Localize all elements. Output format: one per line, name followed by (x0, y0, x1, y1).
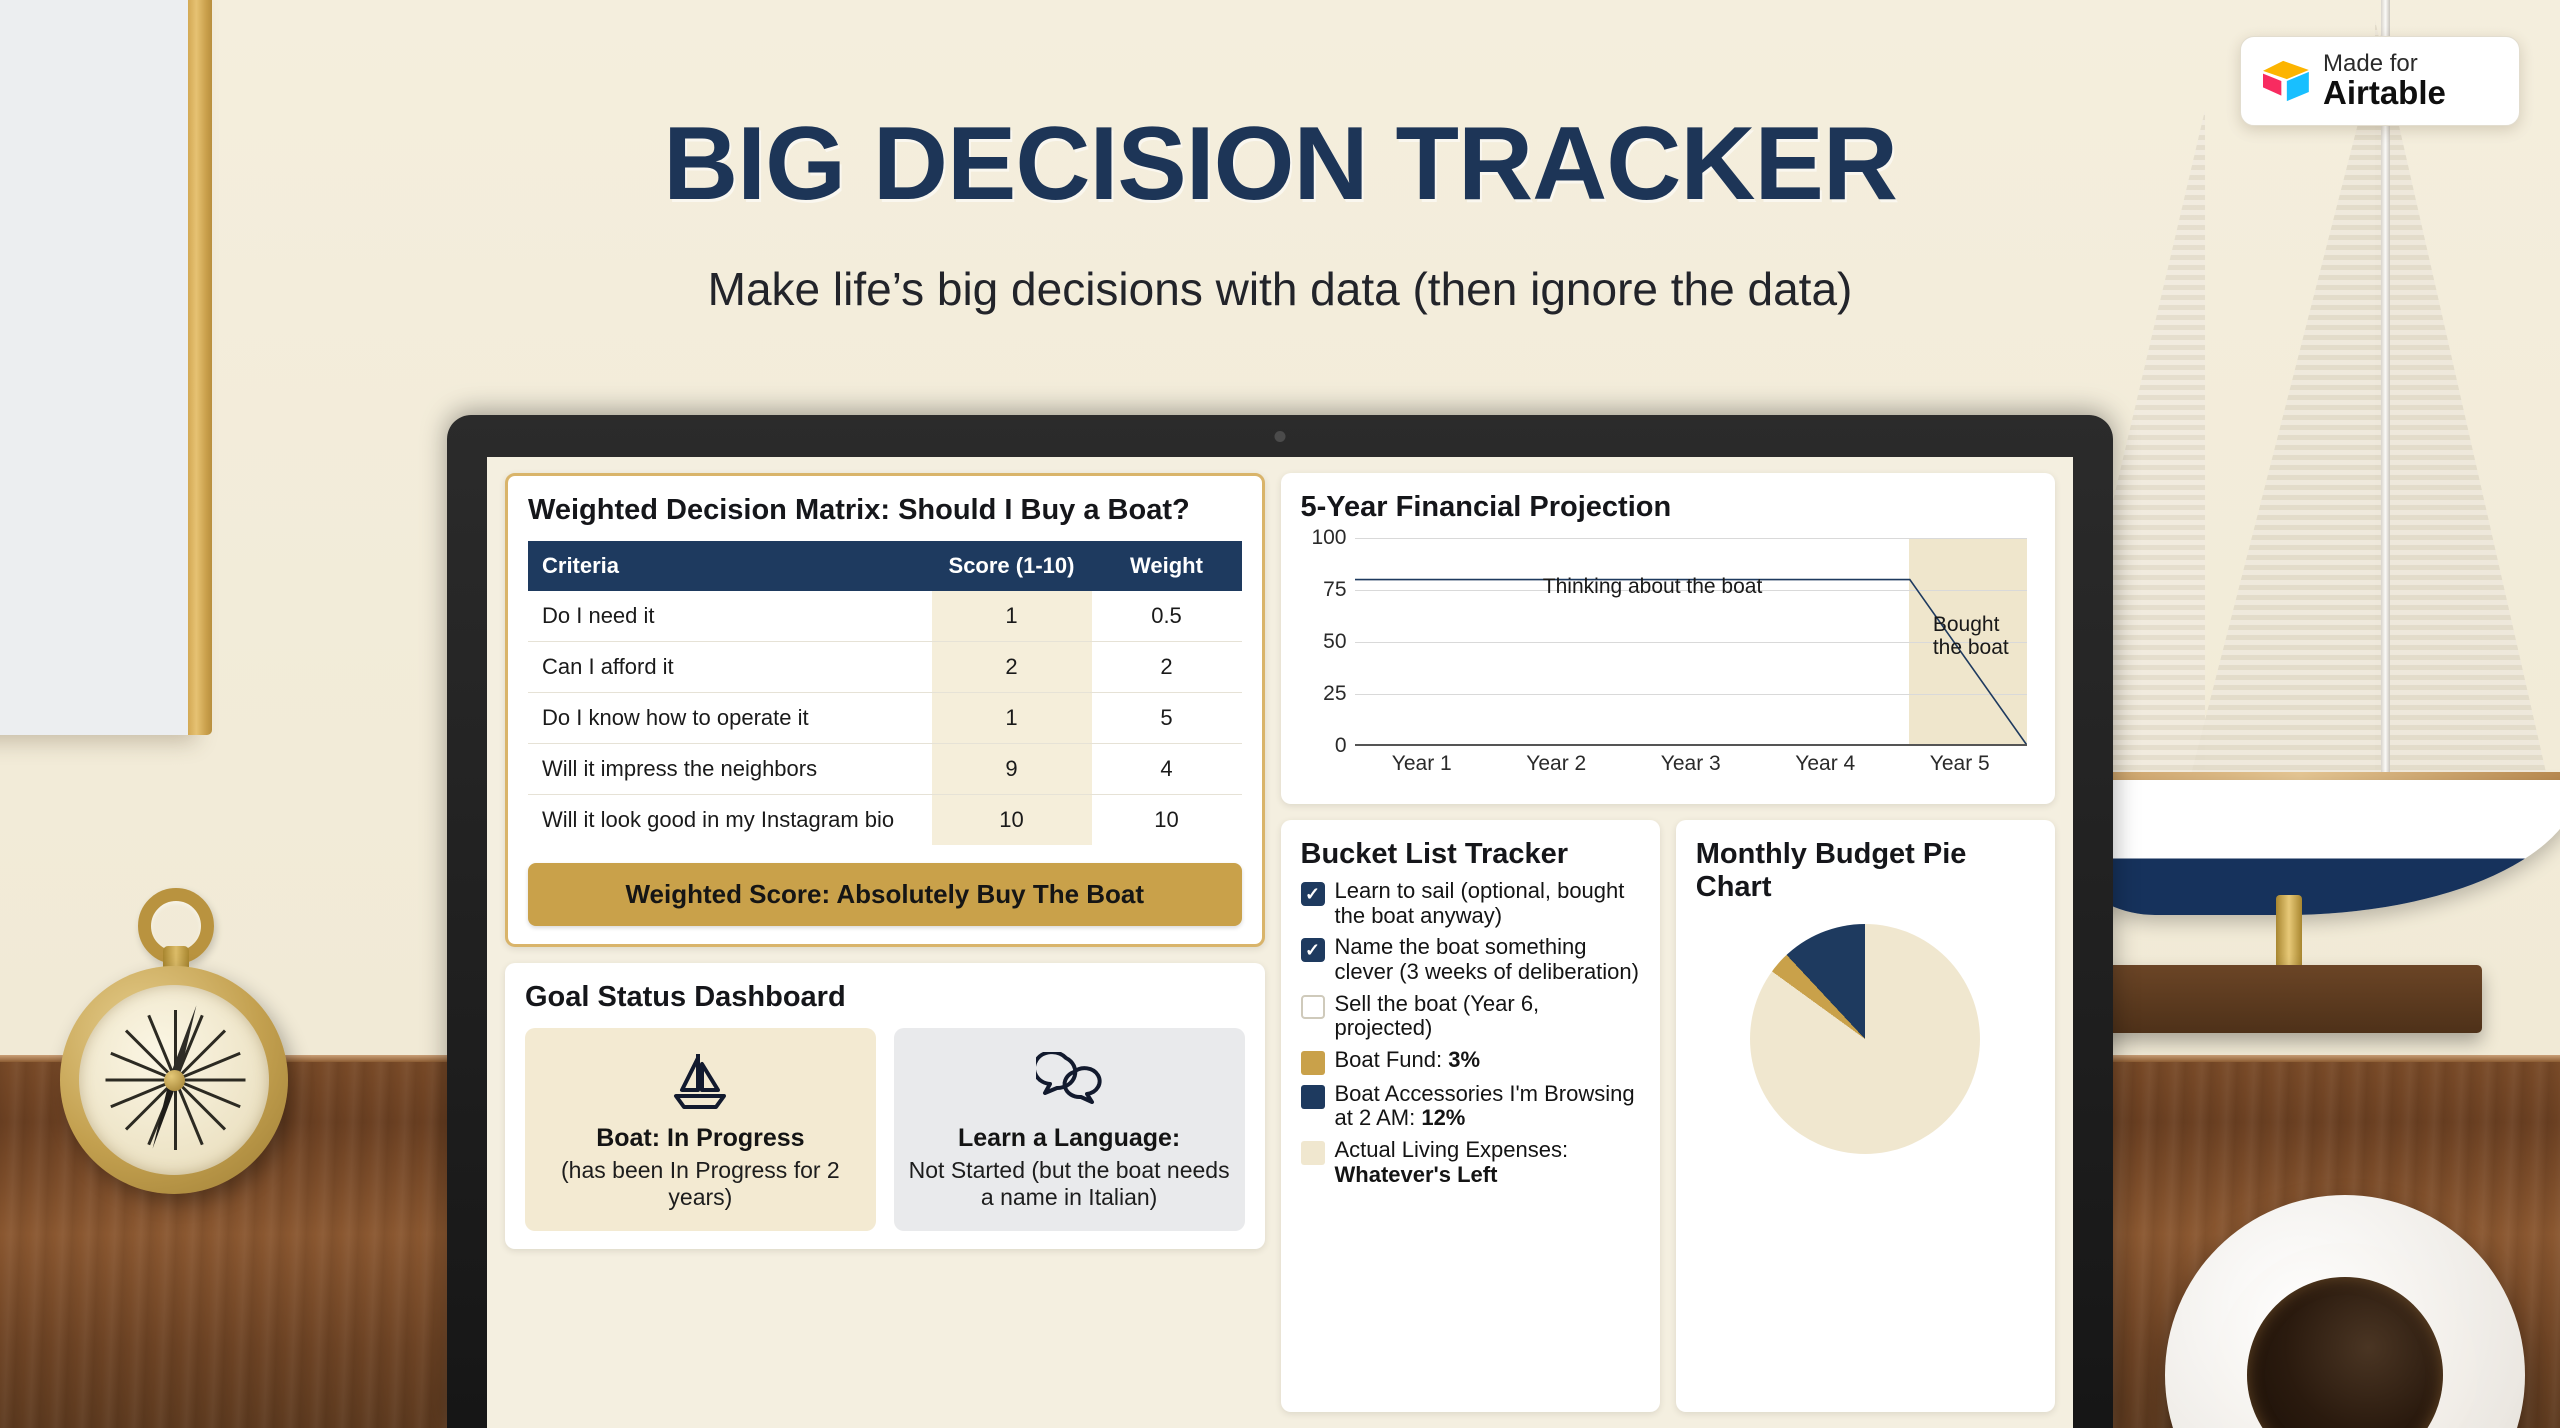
budget-pie-chart (1750, 924, 1980, 1154)
goal-card-language[interactable]: Learn a Language: Not Started (but the b… (894, 1028, 1245, 1231)
financial-projection-card: 5-Year Financial Projection 100 75 50 25… (1281, 473, 2056, 804)
goal-card-sub: Not Started (but the boat needs a name i… (908, 1157, 1231, 1211)
x-tick: Year 4 (1758, 752, 1893, 776)
goal-dashboard-title: Goal Status Dashboard (525, 981, 1245, 1014)
list-item[interactable]: ✓ Learn to sail (optional, bought the bo… (1301, 879, 1640, 928)
table-row: Do I need it 1 0.5 (528, 591, 1242, 642)
weighted-score-banner: Weighted Score: Absolutely Buy The Boat (528, 863, 1242, 926)
legend-label: Boat Accessories I'm Browsing at 2 AM: 1… (1335, 1082, 1640, 1131)
cell-score: 1 (932, 591, 1092, 642)
coffee-cup-prop (2165, 1195, 2525, 1428)
cell-score: 1 (932, 693, 1092, 744)
decision-matrix-title: Weighted Decision Matrix: Should I Buy a… (528, 494, 1242, 527)
x-tick: Year 2 (1489, 752, 1624, 776)
cell-criteria: Do I need it (528, 591, 932, 642)
speech-bubbles-icon (908, 1046, 1231, 1116)
legend-label: Boat Fund: 3% (1335, 1048, 1481, 1073)
line-series (1355, 538, 2028, 746)
table-header-row: Criteria Score (1-10) Weight (528, 541, 1242, 591)
cell-score: 2 (932, 642, 1092, 693)
webcam-icon (1275, 431, 1286, 442)
airtable-logo-icon (2259, 59, 2311, 103)
cell-weight: 0.5 (1092, 591, 1242, 642)
pie-chart-card: Monthly Budget Pie Chart (1676, 820, 2055, 1412)
bucket-list-card: Bucket List Tracker ✓ Learn to sail (opt… (1281, 820, 1660, 1412)
y-tick: 50 (1323, 630, 1346, 654)
cell-score: 10 (932, 795, 1092, 846)
compass-pin (164, 1070, 185, 1091)
made-for-airtable-badge[interactable]: Made for Airtable (2240, 36, 2520, 126)
annotation-bought: Bought the boat (1933, 613, 2009, 659)
legend-item: Boat Fund: 3% (1301, 1048, 1640, 1075)
compass-body (60, 966, 288, 1194)
annotation-bought-line2: the boat (1933, 636, 2009, 659)
legend-item: Actual Living Expenses: Whatever's Left (1301, 1138, 1640, 1187)
legend-swatch (1301, 1141, 1325, 1165)
legend-label: Actual Living Expenses: Whatever's Left (1335, 1138, 1640, 1187)
goal-card-name: Learn a Language: (908, 1124, 1231, 1153)
checkbox-checked-icon[interactable]: ✓ (1301, 938, 1325, 962)
cell-weight: 5 (1092, 693, 1242, 744)
cell-criteria: Will it look good in my Instagram bio (528, 795, 932, 846)
cell-criteria: Will it impress the neighbors (528, 744, 932, 795)
table-row: Do I know how to operate it 1 5 (528, 693, 1242, 744)
annotation-thinking: Thinking about the boat (1543, 575, 1763, 599)
list-item-label: Name the boat something clever (3 weeks … (1335, 935, 1640, 984)
decision-matrix-card: Weighted Decision Matrix: Should I Buy a… (505, 473, 1265, 947)
table-row: Will it impress the neighbors 9 4 (528, 744, 1242, 795)
goal-status-dashboard-card: Goal Status Dashboard Boat: In Progress (505, 963, 1265, 1249)
page-title: BIG DECISION TRACKER (0, 105, 2560, 224)
annotation-bought-line1: Bought (1933, 613, 2009, 636)
list-item[interactable]: ✓ Name the boat something clever (3 week… (1301, 935, 1640, 984)
bucket-list-title: Bucket List Tracker (1301, 838, 1640, 871)
th-score: Score (1-10) (932, 541, 1092, 591)
line-chart: 100 75 50 25 0 (1301, 538, 2036, 786)
laptop-frame: Weighted Decision Matrix: Should I Buy a… (447, 415, 2113, 1428)
checkbox-unchecked-icon[interactable] (1301, 995, 1325, 1019)
goal-card-sub: (has been In Progress for 2 years) (539, 1157, 862, 1211)
sailboat-icon (539, 1046, 862, 1116)
laptop-screen: Weighted Decision Matrix: Should I Buy a… (487, 457, 2073, 1428)
x-tick: Year 5 (1893, 752, 2028, 776)
cell-criteria: Can I afford it (528, 642, 932, 693)
x-axis-labels: Year 1 Year 2 Year 3 Year 4 Year 5 (1355, 752, 2028, 776)
x-tick: Year 1 (1355, 752, 1490, 776)
x-axis (1355, 744, 2028, 746)
goal-card-name: Boat: In Progress (539, 1124, 862, 1153)
plot-area: Thinking about the boat Bought the boat (1355, 538, 2028, 746)
th-criteria: Criteria (528, 541, 932, 591)
pie-chart-title: Monthly Budget Pie Chart (1696, 838, 2035, 904)
legend-swatch (1301, 1051, 1325, 1075)
wood-base (2062, 965, 2482, 1033)
y-tick: 100 (1311, 526, 1346, 550)
badge-brand-label: Airtable (2323, 76, 2446, 111)
cell-score: 9 (932, 744, 1092, 795)
brass-post (2276, 895, 2302, 975)
legend-swatch (1301, 1085, 1325, 1109)
y-tick: 75 (1323, 578, 1346, 602)
page-subtitle: Make life’s big decisions with data (the… (0, 262, 2560, 316)
badge-made-for-label: Made for (2323, 51, 2446, 76)
checkbox-checked-icon[interactable]: ✓ (1301, 882, 1325, 906)
compass-face (79, 985, 269, 1175)
y-tick: 25 (1323, 682, 1346, 706)
th-weight: Weight (1092, 541, 1242, 591)
cell-criteria: Do I know how to operate it (528, 693, 932, 744)
table-row: Will it look good in my Instagram bio 10… (528, 795, 1242, 846)
y-axis-labels: 100 75 50 25 0 (1301, 538, 1347, 746)
x-tick: Year 3 (1624, 752, 1759, 776)
cell-weight: 2 (1092, 642, 1242, 693)
cell-weight: 4 (1092, 744, 1242, 795)
y-tick: 0 (1335, 734, 1347, 758)
financial-projection-title: 5-Year Financial Projection (1301, 491, 2036, 524)
decision-matrix-table: Criteria Score (1-10) Weight Do I need i… (528, 541, 1242, 845)
list-item-label: Sell the boat (Year 6, projected) (1335, 992, 1640, 1041)
legend-item: Boat Accessories I'm Browsing at 2 AM: 1… (1301, 1082, 1640, 1131)
cell-weight: 10 (1092, 795, 1242, 846)
list-item-label: Learn to sail (optional, bought the boat… (1335, 879, 1640, 928)
list-item[interactable]: Sell the boat (Year 6, projected) (1301, 992, 1640, 1041)
compass-prop (38, 820, 313, 1095)
goal-card-boat[interactable]: Boat: In Progress (has been In Progress … (525, 1028, 876, 1231)
table-row: Can I afford it 2 2 (528, 642, 1242, 693)
